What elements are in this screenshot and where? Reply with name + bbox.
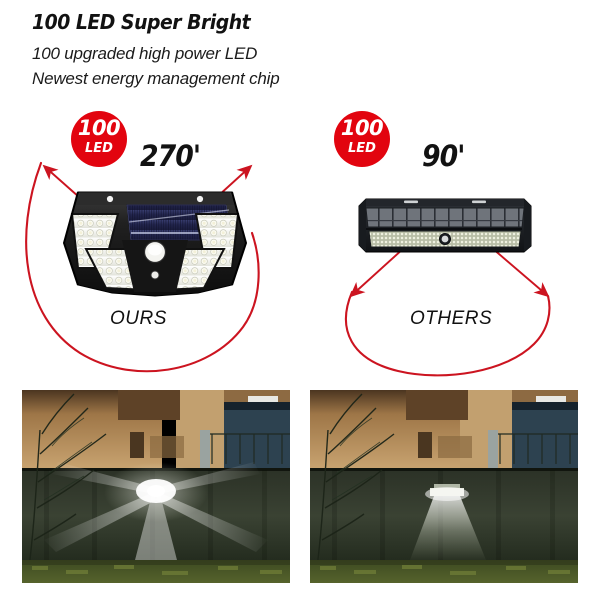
arrow-others-right [492, 248, 548, 296]
light-sensor [151, 271, 159, 279]
photo-beam-ours [22, 390, 290, 583]
arrow-others-left [351, 248, 404, 296]
infographic-page: 100 LED Super Bright 100 upgraded high p… [0, 0, 600, 600]
product-lamp-ours [64, 192, 246, 296]
pir-sensor-dome-others [442, 236, 449, 243]
photo-beam-others [310, 390, 578, 583]
product-lamp-others [359, 199, 531, 252]
photo-ours-scene [22, 390, 290, 583]
coverage-arc-others [346, 248, 550, 375]
photo-others-scene [310, 390, 578, 583]
